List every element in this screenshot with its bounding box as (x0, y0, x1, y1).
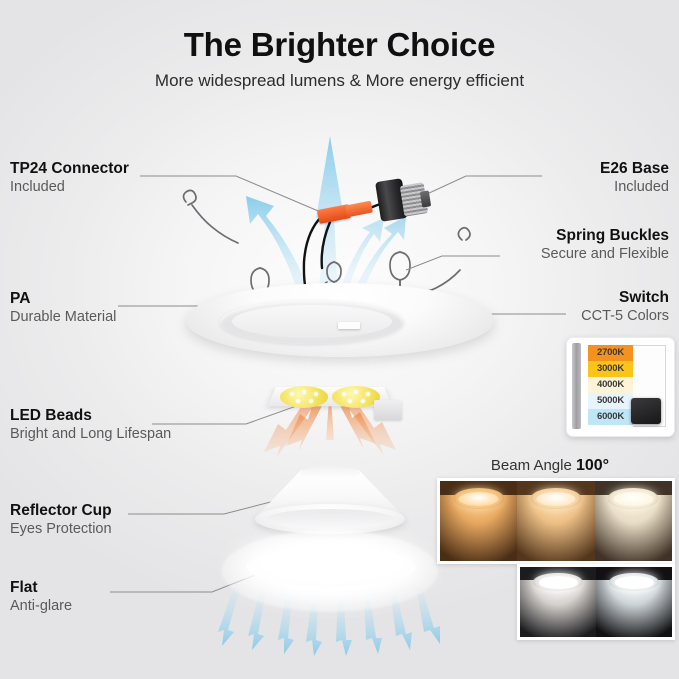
cct-switch-knob[interactable] (631, 398, 661, 424)
led-bead (290, 392, 294, 396)
callout-subtitle: Durable Material (10, 308, 116, 327)
beam-angle-label: Beam Angle 100° (430, 457, 670, 475)
callout-subtitle: Included (10, 178, 129, 197)
led-bead (342, 392, 346, 396)
cct-option-2700k[interactable]: 2700K (588, 345, 633, 361)
callout-subtitle: Anti-glare (10, 597, 72, 616)
callout-reflector-cup: Reflector Cup Eyes Protection (10, 501, 112, 539)
callout-flat: Flat Anti-glare (10, 578, 72, 616)
callout-title: Reflector Cup (10, 501, 112, 520)
led-bead (309, 399, 313, 403)
cct-option-list[interactable]: 2700K3000K4000K5000K6000K (588, 345, 633, 425)
callout-title: Switch (581, 288, 669, 307)
beam-swatch-warm-2700k (440, 481, 517, 561)
callout-title: Flat (10, 578, 72, 597)
infographic-canvas: The Brighter Choice More widespread lume… (0, 0, 679, 679)
led-bead (348, 399, 352, 403)
callout-tp24-connector: TP24 Connector Included (10, 159, 129, 197)
callout-switch: Switch CCT-5 Colors (581, 288, 669, 326)
led-driver-box (374, 400, 402, 420)
led-bead (354, 390, 358, 394)
led-bead (314, 392, 318, 396)
callout-subtitle: CCT-5 Colors (581, 307, 669, 326)
callout-subtitle: Eyes Protection (10, 520, 112, 539)
callout-led-beads: LED Beads Bright and Long Lifespan (10, 406, 171, 444)
reflector-cup-top (300, 466, 360, 480)
e26-base-tip (420, 190, 431, 207)
callout-subtitle: Secure and Flexible (541, 245, 669, 264)
downlight-fixture (608, 488, 659, 509)
cct-option-6000k[interactable]: 6000K (588, 409, 633, 425)
cct-switch-rail (572, 343, 581, 429)
callout-subtitle: Bright and Long Lifespan (10, 425, 171, 444)
beam-swatches-cool (517, 564, 675, 640)
callout-title: E26 Base (600, 159, 669, 178)
callout-spring-buckles: Spring Buckles Secure and Flexible (541, 226, 669, 264)
beam-swatches-warm (437, 478, 675, 564)
callout-title: LED Beads (10, 406, 171, 425)
callout-title: TP24 Connector (10, 159, 129, 178)
beam-angle-value: 100° (576, 457, 609, 474)
flat-panel (246, 547, 416, 587)
cct-switch-tab[interactable] (338, 322, 360, 329)
cct-option-3000k[interactable]: 3000K (588, 361, 633, 377)
callout-subtitle: Included (600, 178, 669, 197)
led-bead (302, 390, 306, 394)
beam-swatch-cool-6000k (596, 567, 672, 637)
downlight-lens (536, 492, 576, 506)
beam-angle-prefix: Beam Angle (491, 457, 576, 474)
downlight-fixture (453, 488, 504, 509)
page-title: The Brighter Choice (0, 26, 679, 64)
reflector-cup-rim-inner (266, 509, 394, 529)
led-bead (366, 392, 370, 396)
downlight-lens (459, 492, 499, 506)
callout-e26-base: E26 Base Included (600, 159, 669, 197)
beam-swatch-warm-3000k (517, 481, 594, 561)
downlight-lens (613, 492, 653, 506)
downlight-fixture (530, 488, 581, 509)
led-bead (361, 399, 365, 403)
callout-title: Spring Buckles (541, 226, 669, 245)
callout-pa: PA Durable Material (10, 289, 116, 327)
beam-swatch-neutral-4000k (595, 481, 672, 561)
led-bead (296, 399, 300, 403)
cct-option-4000k[interactable]: 4000K (588, 377, 633, 393)
downlight-lens (538, 576, 577, 588)
downlight-lens (614, 576, 653, 588)
cct-option-5000k[interactable]: 5000K (588, 393, 633, 409)
tp24-connector-socket (345, 201, 373, 218)
page-subtitle: More widespread lumens & More energy eff… (0, 71, 679, 91)
trim-housing-face (232, 305, 392, 338)
beam-swatch-cool-5000k (520, 567, 596, 637)
callout-title: PA (10, 289, 116, 308)
